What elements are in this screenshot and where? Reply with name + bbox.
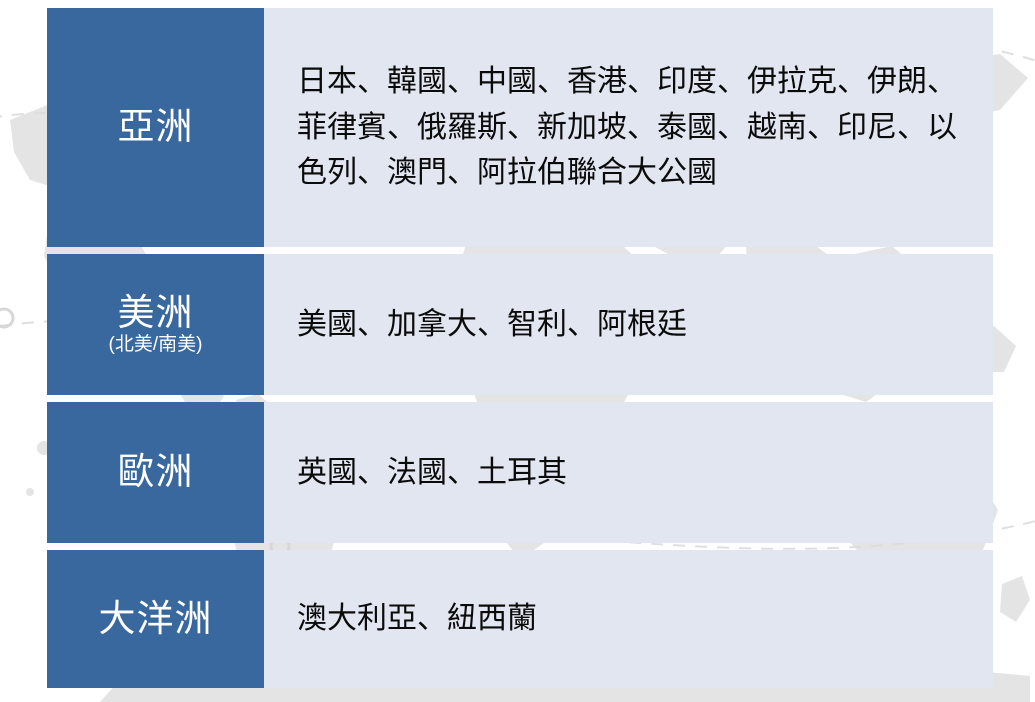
row-divider (47, 543, 993, 550)
region-name: 美洲 (118, 294, 194, 333)
region-name: 亞洲 (118, 108, 194, 147)
region-label-cell: 亞洲 (47, 8, 264, 247)
row-divider (47, 247, 993, 254)
table-row: 大洋洲 澳大利亞、紐西蘭 (47, 550, 993, 688)
countries-list: 美國、加拿大、智利、阿根廷 (264, 302, 711, 348)
region-name: 歐洲 (118, 453, 194, 492)
region-countries-cell: 日本、韓國、中國、香港、印度、伊拉克、伊朗、菲律賓、俄羅斯、新加坡、泰國、越南、… (264, 8, 993, 247)
table-row: 美洲 (北美/南美) 美國、加拿大、智利、阿根廷 (47, 254, 993, 395)
countries-list: 英國、法國、土耳其 (264, 450, 591, 496)
region-table: 亞洲 日本、韓國、中國、香港、印度、伊拉克、伊朗、菲律賓、俄羅斯、新加坡、泰國、… (47, 8, 993, 688)
region-countries-cell: 澳大利亞、紐西蘭 (264, 550, 993, 688)
region-label-cell: 大洋洲 (47, 550, 264, 688)
region-subname: (北美/南美) (109, 335, 203, 355)
countries-list: 澳大利亞、紐西蘭 (264, 596, 561, 642)
region-label-cell: 美洲 (北美/南美) (47, 254, 264, 395)
region-name: 大洋洲 (99, 600, 213, 639)
region-countries-cell: 英國、法國、土耳其 (264, 402, 993, 543)
row-divider (47, 395, 993, 402)
region-countries-cell: 美國、加拿大、智利、阿根廷 (264, 254, 993, 395)
region-label-cell: 歐洲 (47, 402, 264, 543)
countries-list: 日本、韓國、中國、香港、印度、伊拉克、伊朗、菲律賓、俄羅斯、新加坡、泰國、越南、… (264, 59, 993, 196)
table-row: 歐洲 英國、法國、土耳其 (47, 402, 993, 543)
table-row: 亞洲 日本、韓國、中國、香港、印度、伊拉克、伊朗、菲律賓、俄羅斯、新加坡、泰國、… (47, 8, 993, 247)
